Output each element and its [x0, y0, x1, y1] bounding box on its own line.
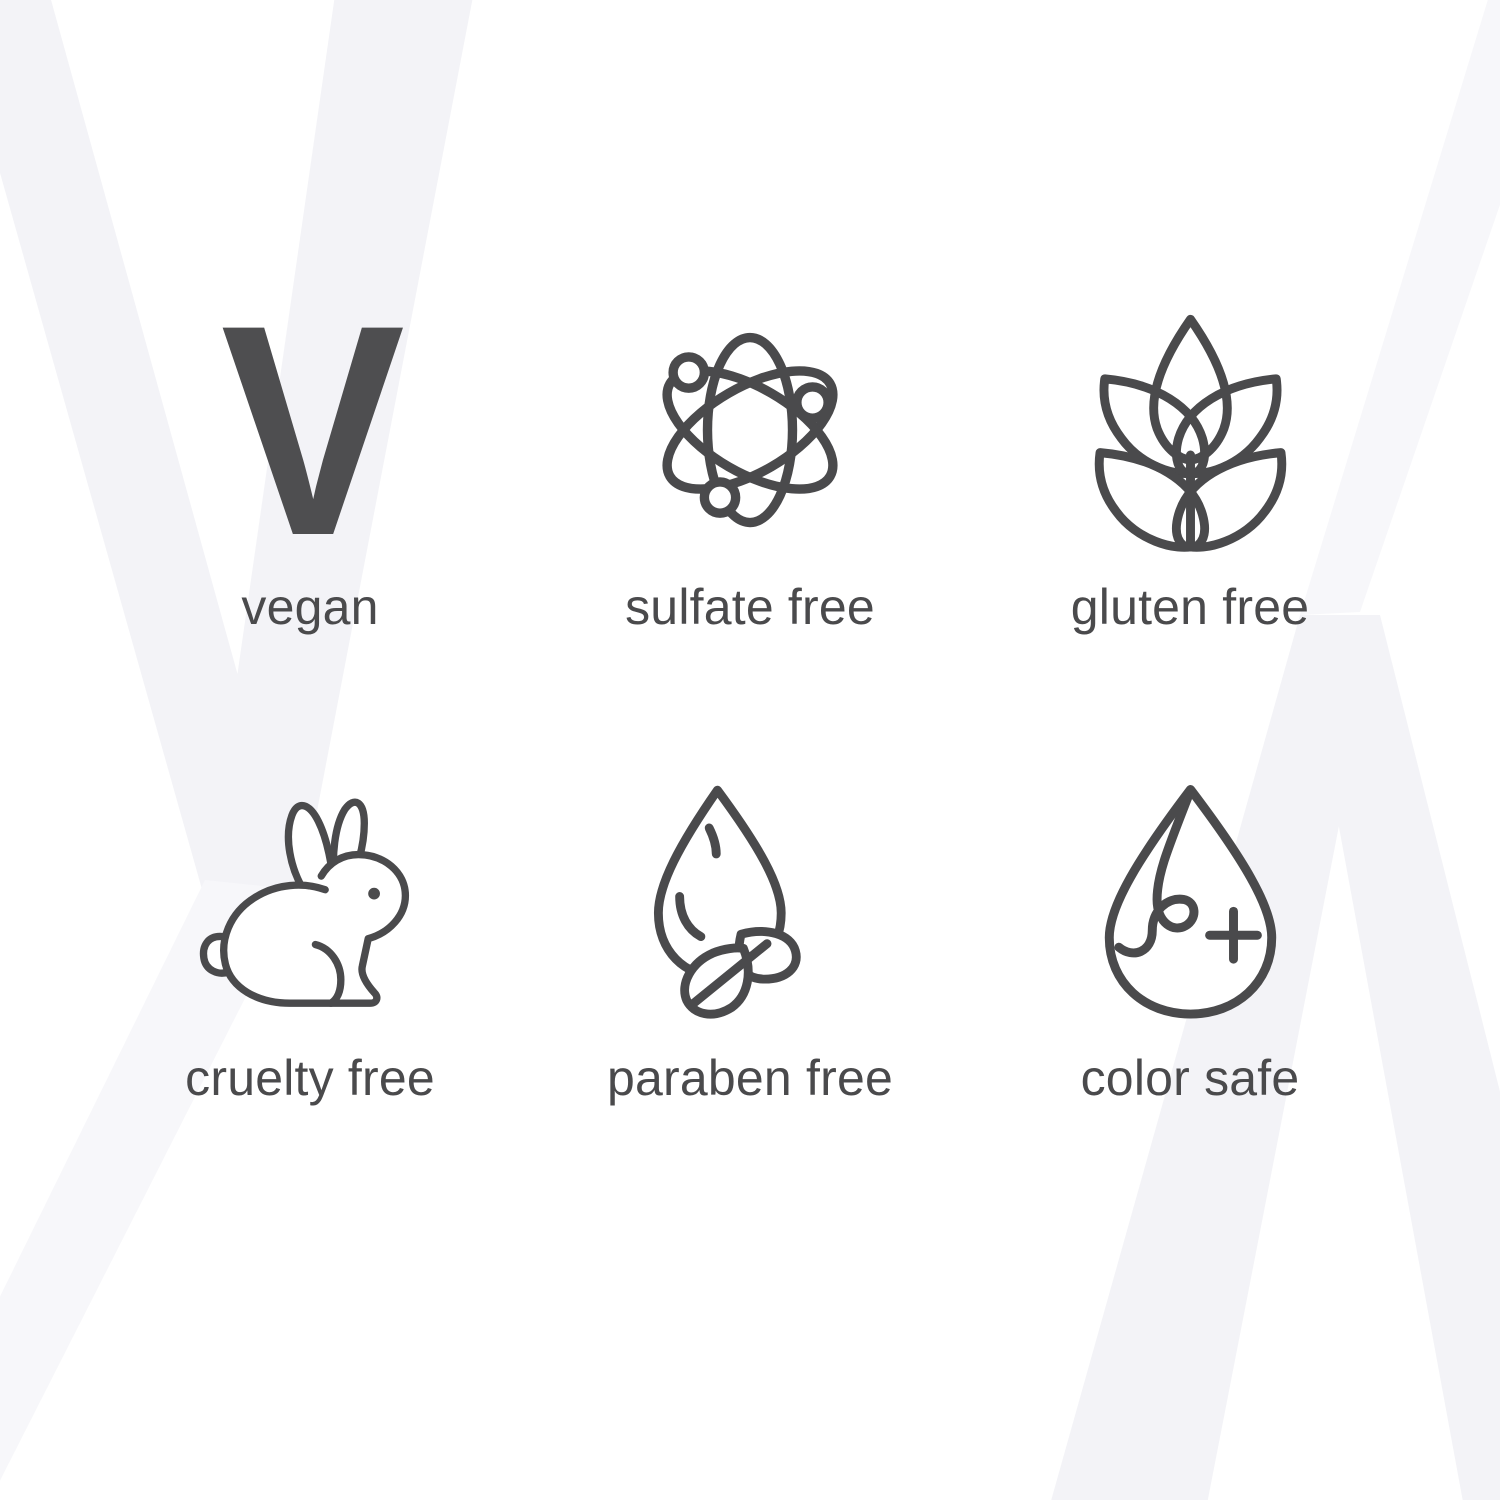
letter-v-glyph: V — [221, 304, 400, 556]
claims-grid: V vegan sulfate free — [0, 0, 1500, 1500]
atom-electron-top-left — [673, 357, 704, 388]
droplet-swirl-plus-icon — [970, 775, 1410, 1025]
badge-color-safe[interactable]: color safe — [970, 775, 1410, 1250]
badge-label-cruelty-free: cruelty free — [185, 1053, 435, 1103]
badge-label-gluten-free: gluten free — [1071, 582, 1309, 632]
letter-v-icon: V — [90, 300, 530, 560]
wheat-leaf-icon — [970, 300, 1410, 560]
rabbit-icon — [90, 775, 530, 1025]
atom-electron-bottom — [704, 482, 735, 513]
badge-gluten-free[interactable]: gluten free — [970, 300, 1410, 775]
atom-icon — [530, 300, 970, 560]
wheat-leaf-center — [1153, 319, 1227, 459]
badge-label-color-safe: color safe — [1081, 1053, 1300, 1103]
atom-electron-right — [797, 387, 828, 418]
droplet-leaf-icon — [530, 775, 970, 1025]
badge-paraben-free[interactable]: paraben free — [530, 775, 970, 1250]
badge-vegan[interactable]: V vegan — [90, 300, 530, 775]
badge-label-sulfate-free: sulfate free — [625, 582, 875, 632]
badge-sulfate-free[interactable]: sulfate free — [530, 300, 970, 775]
badge-cruelty-free[interactable]: cruelty free — [90, 775, 530, 1250]
badge-label-paraben-free: paraben free — [607, 1053, 893, 1103]
rabbit-eye — [368, 887, 380, 899]
product-claims-panel: V vegan sulfate free — [0, 0, 1500, 1500]
